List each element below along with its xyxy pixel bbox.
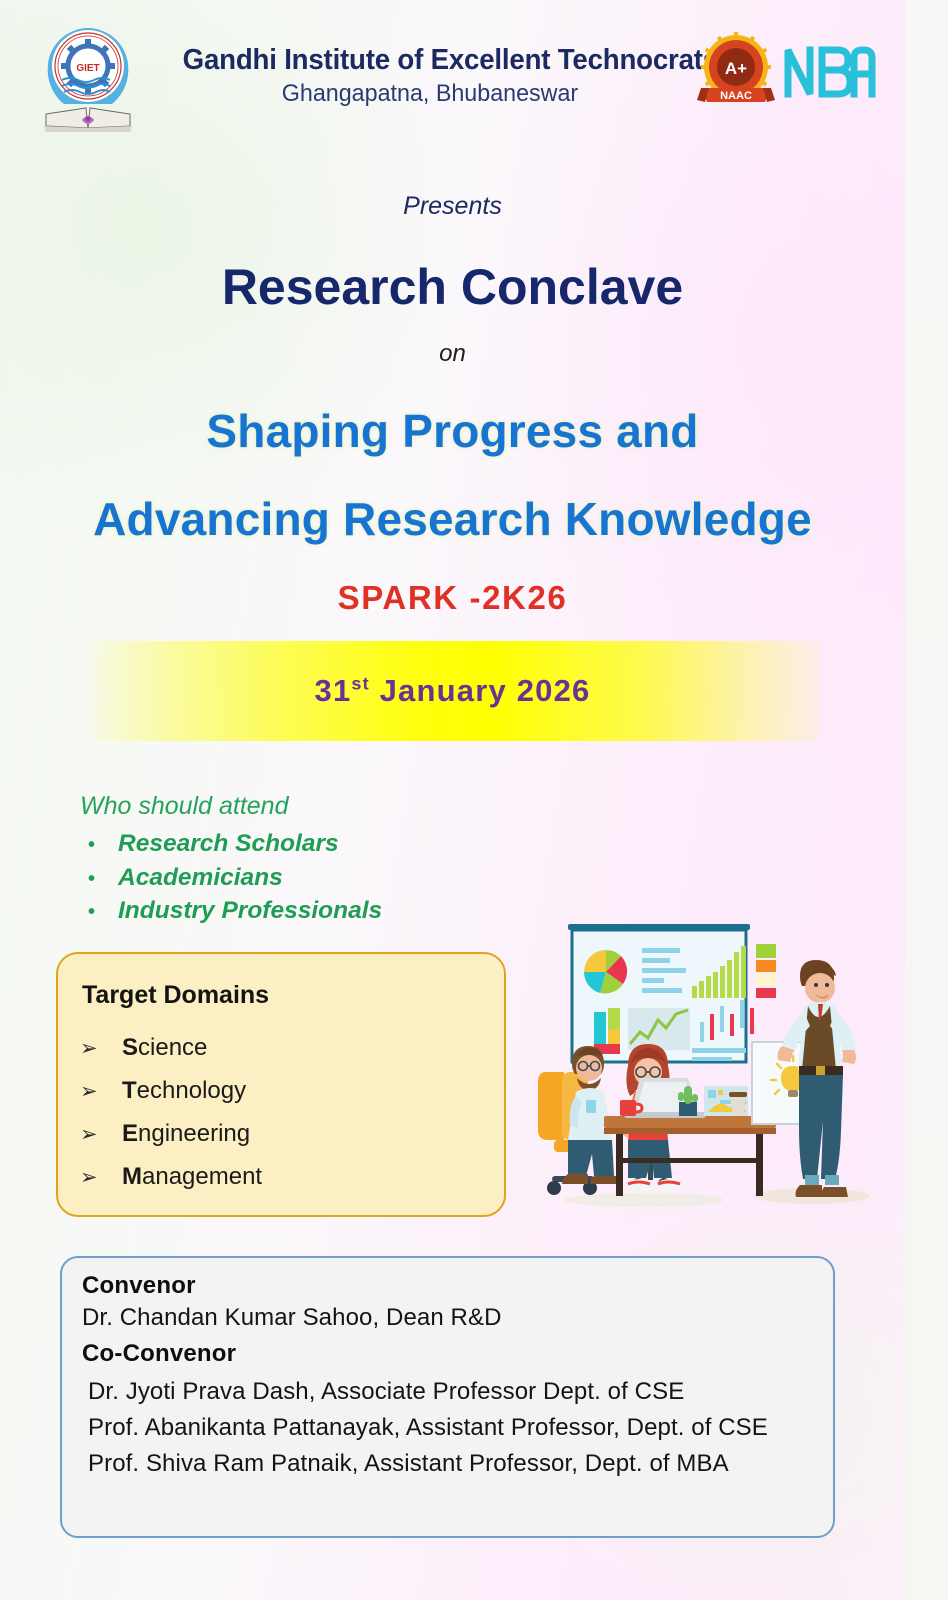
list-item: Prof. Abanikanta Pattanayak, Assistant P… (82, 1410, 819, 1446)
domain-rest: echnology (137, 1077, 246, 1104)
attendee-type-label: Research Scholars (118, 830, 339, 857)
list-item: ➢Management (80, 1156, 262, 1199)
organisers-box: Convenor Dr. Chandan Kumar Sahoo, Dean R… (60, 1256, 835, 1538)
bullet-icon: • (88, 896, 118, 929)
who-should-attend-list: •Research Scholars •Academicians •Indust… (88, 828, 382, 929)
naac-label-text: NAAC (720, 90, 752, 102)
giet-logo-text: GIET (76, 63, 99, 74)
bullet-icon: • (88, 863, 118, 896)
list-item: Dr. Jyoti Prava Dash, Associate Professo… (82, 1374, 819, 1410)
list-item: Prof. Shiva Ram Patnaik, Assistant Profe… (82, 1446, 819, 1482)
domain-rest: ngineering (138, 1120, 250, 1147)
arrow-bullet-icon: ➢ (80, 1028, 122, 1070)
nba-accreditation-logo (782, 44, 877, 98)
domain-initial: S (122, 1034, 138, 1061)
event-code: SPARK -2K26 (0, 579, 905, 617)
event-date-suffix: st (351, 674, 369, 694)
who-should-attend-heading: Who should attend (80, 792, 288, 821)
theme-line-1: Shaping Progress and (0, 404, 905, 458)
theme-line-2: Advancing Research Knowledge (0, 492, 905, 546)
naac-accreditation-logo: A+ NAAC (697, 32, 775, 110)
institute-city: Ghangapatna, Bhubaneswar (183, 80, 678, 108)
event-date-month-year: January 2026 (380, 673, 591, 708)
convenor-label: Convenor (82, 1272, 819, 1300)
domain-initial: E (122, 1120, 138, 1147)
target-domains-box: Target Domains ➢Science ➢Technology ➢Eng… (56, 952, 506, 1217)
poster-header: GIET Gandhi Institute of Excellent Techn… (0, 0, 905, 150)
convenor-name: Dr. Chandan Kumar Sahoo, Dean R&D (82, 1304, 819, 1332)
arrow-bullet-icon: ➢ (80, 1114, 122, 1156)
giet-crest-logo: GIET (36, 22, 140, 134)
poster-canvas: GIET Gandhi Institute of Excellent Techn… (0, 0, 948, 1600)
arrow-bullet-icon: ➢ (80, 1157, 122, 1199)
list-item: •Research Scholars (88, 828, 382, 862)
domain-rest: anagement (142, 1163, 262, 1190)
domain-initial: M (122, 1163, 142, 1190)
background-right-margin (905, 0, 948, 1600)
presents-label: Presents (0, 192, 905, 221)
business-team-presentation-illustration (524, 896, 884, 1216)
list-item: •Academicians (88, 862, 382, 896)
target-domains-list: ➢Science ➢Technology ➢Engineering ➢Manag… (80, 1027, 262, 1199)
naac-grade-text: A+ (725, 59, 747, 78)
on-label: on (0, 340, 905, 368)
domain-rest: cience (138, 1034, 207, 1061)
co-convenor-label: Co-Convenor (82, 1340, 819, 1368)
institute-name: Gandhi Institute of Excellent Technocrat… (183, 44, 678, 77)
event-date: 31st January 2026 (0, 673, 905, 709)
list-item: ➢Science (80, 1027, 262, 1070)
target-domains-title: Target Domains (82, 981, 269, 1010)
attendee-type-label: Academicians (118, 864, 283, 891)
event-date-day: 31 (315, 673, 352, 708)
domain-initial: T (122, 1077, 137, 1104)
event-title: Research Conclave (0, 258, 905, 316)
institute-name-block: Gandhi Institute of Excellent Technocrat… (175, 44, 685, 108)
attendee-type-label: Industry Professionals (118, 897, 382, 924)
bullet-icon: • (88, 829, 118, 862)
organisers-content: Convenor Dr. Chandan Kumar Sahoo, Dean R… (82, 1272, 819, 1482)
list-item: •Industry Professionals (88, 895, 382, 929)
list-item: ➢Technology (80, 1070, 262, 1113)
arrow-bullet-icon: ➢ (80, 1071, 122, 1113)
list-item: ➢Engineering (80, 1113, 262, 1156)
co-convenor-list: Dr. Jyoti Prava Dash, Associate Professo… (82, 1374, 819, 1482)
